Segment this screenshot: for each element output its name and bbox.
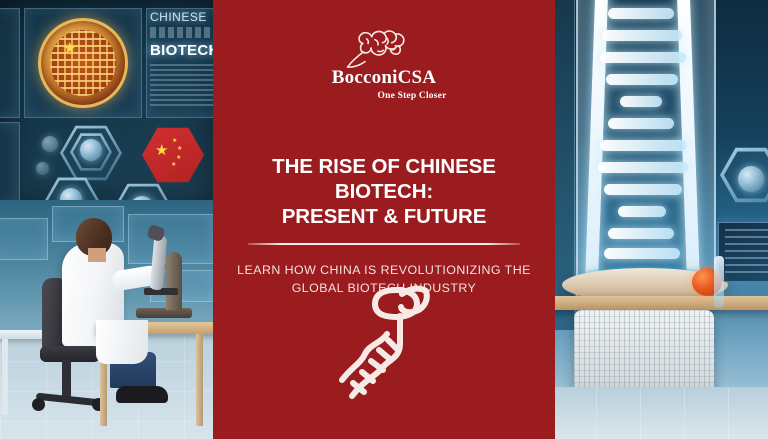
dna-rung <box>608 8 674 19</box>
dna-rung <box>608 228 674 239</box>
dna-rung <box>620 96 662 107</box>
dna-rung <box>606 74 678 85</box>
cell-node-a <box>42 136 58 152</box>
left-image-panel: ★ CHINESE BIOTECH ★ ★ ★ ★ ★ <box>0 0 216 439</box>
dna-rung <box>604 248 680 259</box>
hud-cell-left <box>0 8 20 118</box>
dna-rung <box>618 206 666 217</box>
lab-monitor-icon <box>718 222 768 282</box>
seal-star-icon: ★ <box>63 41 76 56</box>
scientist-neck <box>88 248 106 262</box>
dna-rung <box>604 184 682 195</box>
subheadline-line-1: LEARN HOW CHINA IS REVOLUTIONIZING THE <box>237 263 531 277</box>
page-title: THE RISE OF CHINESE BIOTECH: PRESENT & F… <box>223 154 545 229</box>
poster-canvas: ★ CHINESE BIOTECH ★ ★ ★ ★ ★ <box>0 0 768 439</box>
dna-sprout-icon <box>332 282 436 414</box>
hud-label-chinese: CHINESE <box>150 10 207 24</box>
flag-small-star-4: ★ <box>171 162 176 168</box>
footer-icon-wrap <box>213 282 555 414</box>
microscope-arm <box>166 252 182 310</box>
logo-tagline: One Step Closer <box>378 91 447 101</box>
dna-rung <box>600 52 686 63</box>
dna-rung <box>598 162 688 173</box>
hud-cell-lower-left <box>0 122 20 204</box>
right-lab-bench <box>552 296 768 310</box>
right-image-panel <box>552 0 768 439</box>
scientist-coat-tail <box>96 320 148 364</box>
flag-small-star-2: ★ <box>177 146 182 152</box>
hex-monitor-cell <box>738 166 764 192</box>
dna-rung <box>608 118 674 129</box>
side-table-leg <box>2 339 8 415</box>
holographic-board: ★ CHINESE BIOTECH ★ ★ ★ ★ ★ <box>0 0 216 208</box>
chinese-seal-icon: ★ <box>38 18 128 108</box>
flag-small-star-3: ★ <box>176 155 181 161</box>
chair-wheel-left <box>32 398 45 411</box>
wall-display-1 <box>0 218 48 260</box>
dna-double-helix-icon <box>586 0 702 290</box>
office-chair-post <box>62 360 71 400</box>
hud-ghost-line <box>150 27 216 38</box>
hud-label-biotech: BIOTECH <box>150 42 216 59</box>
scientist-shoe <box>116 386 168 403</box>
brand-logo[interactable]: BocconiCSA One Step Closer <box>213 26 555 101</box>
flag-big-star: ★ <box>155 143 168 158</box>
lab-bench-leg-right <box>196 334 203 426</box>
headline-block: THE RISE OF CHINESE BIOTECH: PRESENT & F… <box>223 154 545 297</box>
cell-node-b <box>36 162 49 175</box>
center-content-panel: BocconiCSA One Step Closer THE RISE OF C… <box>213 0 555 439</box>
title-divider <box>248 243 520 245</box>
cell-sample-icon <box>80 139 102 161</box>
logo-name: BocconiCSA <box>332 67 436 89</box>
microscope-base <box>136 308 192 318</box>
monitor-scanlines <box>725 229 768 275</box>
china-flag-icon: ★ ★ ★ ★ ★ <box>142 126 204 184</box>
headline-line-1: THE RISE OF CHINESE BIOTECH: <box>272 155 496 203</box>
headline-line-2: PRESENT & FUTURE <box>223 204 545 229</box>
test-tube-rack <box>714 256 724 308</box>
flag-small-star-1: ★ <box>172 138 177 144</box>
brain-swirl-icon <box>338 26 430 70</box>
hud-body-text-lines <box>150 64 216 106</box>
dna-rung <box>600 140 686 151</box>
dna-rung <box>602 30 682 41</box>
right-lab-floor <box>552 387 768 439</box>
